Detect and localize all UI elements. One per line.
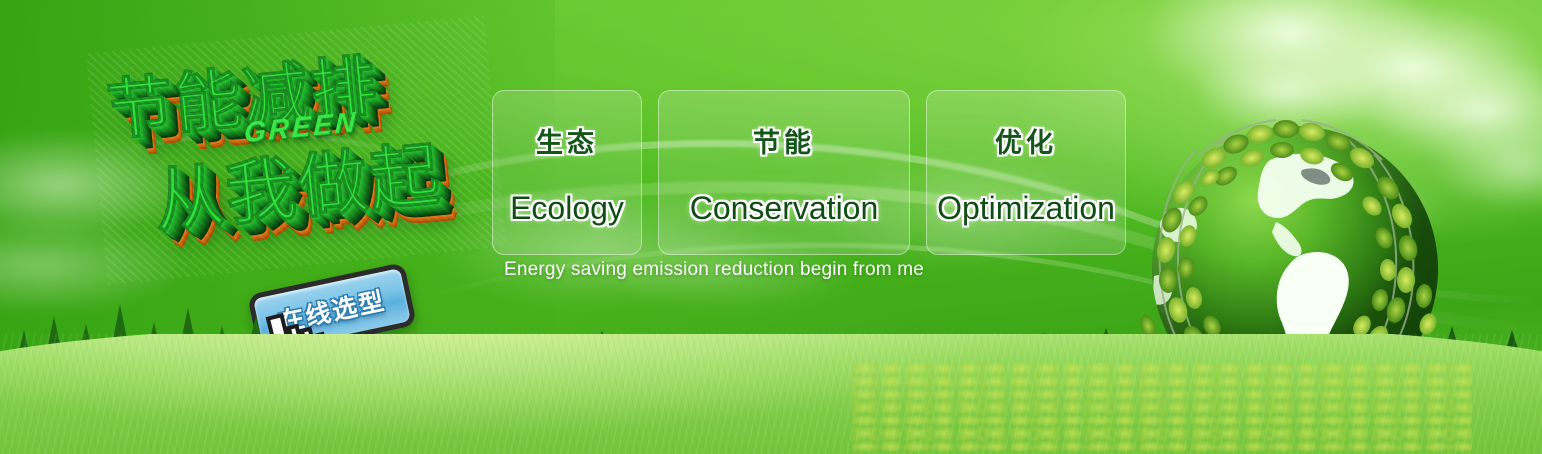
grass-field	[0, 334, 1542, 454]
feature-card-list: 生态 Ecology 节能 Conservation 优化 Optimizati…	[492, 90, 1126, 255]
feature-card-title-en: Conservation	[690, 190, 879, 227]
tagline-text: Energy saving emission reduction begin f…	[504, 259, 924, 281]
feature-card-title-cn: 生态	[536, 121, 598, 160]
feature-card-title-cn: 优化	[995, 121, 1057, 160]
feature-card-ecology[interactable]: 生态 Ecology	[492, 90, 642, 255]
feature-card-title-en: Optimization	[937, 190, 1115, 227]
headline-3d: 节能减排 GREEN 从我做起	[86, 15, 506, 284]
green-energy-banner: 节能减排 GREEN 从我做起 生态 Ecology 节能 Conservati…	[0, 0, 1542, 454]
leaf-litter	[852, 362, 1472, 454]
feature-card-optimization[interactable]: 优化 Optimization	[926, 90, 1126, 255]
feature-card-conservation[interactable]: 节能 Conservation	[658, 90, 910, 255]
online-selection-label: 在线选型	[275, 281, 388, 339]
feature-card-title-en: Ecology	[510, 190, 624, 227]
feature-card-title-cn: 节能	[753, 121, 815, 160]
